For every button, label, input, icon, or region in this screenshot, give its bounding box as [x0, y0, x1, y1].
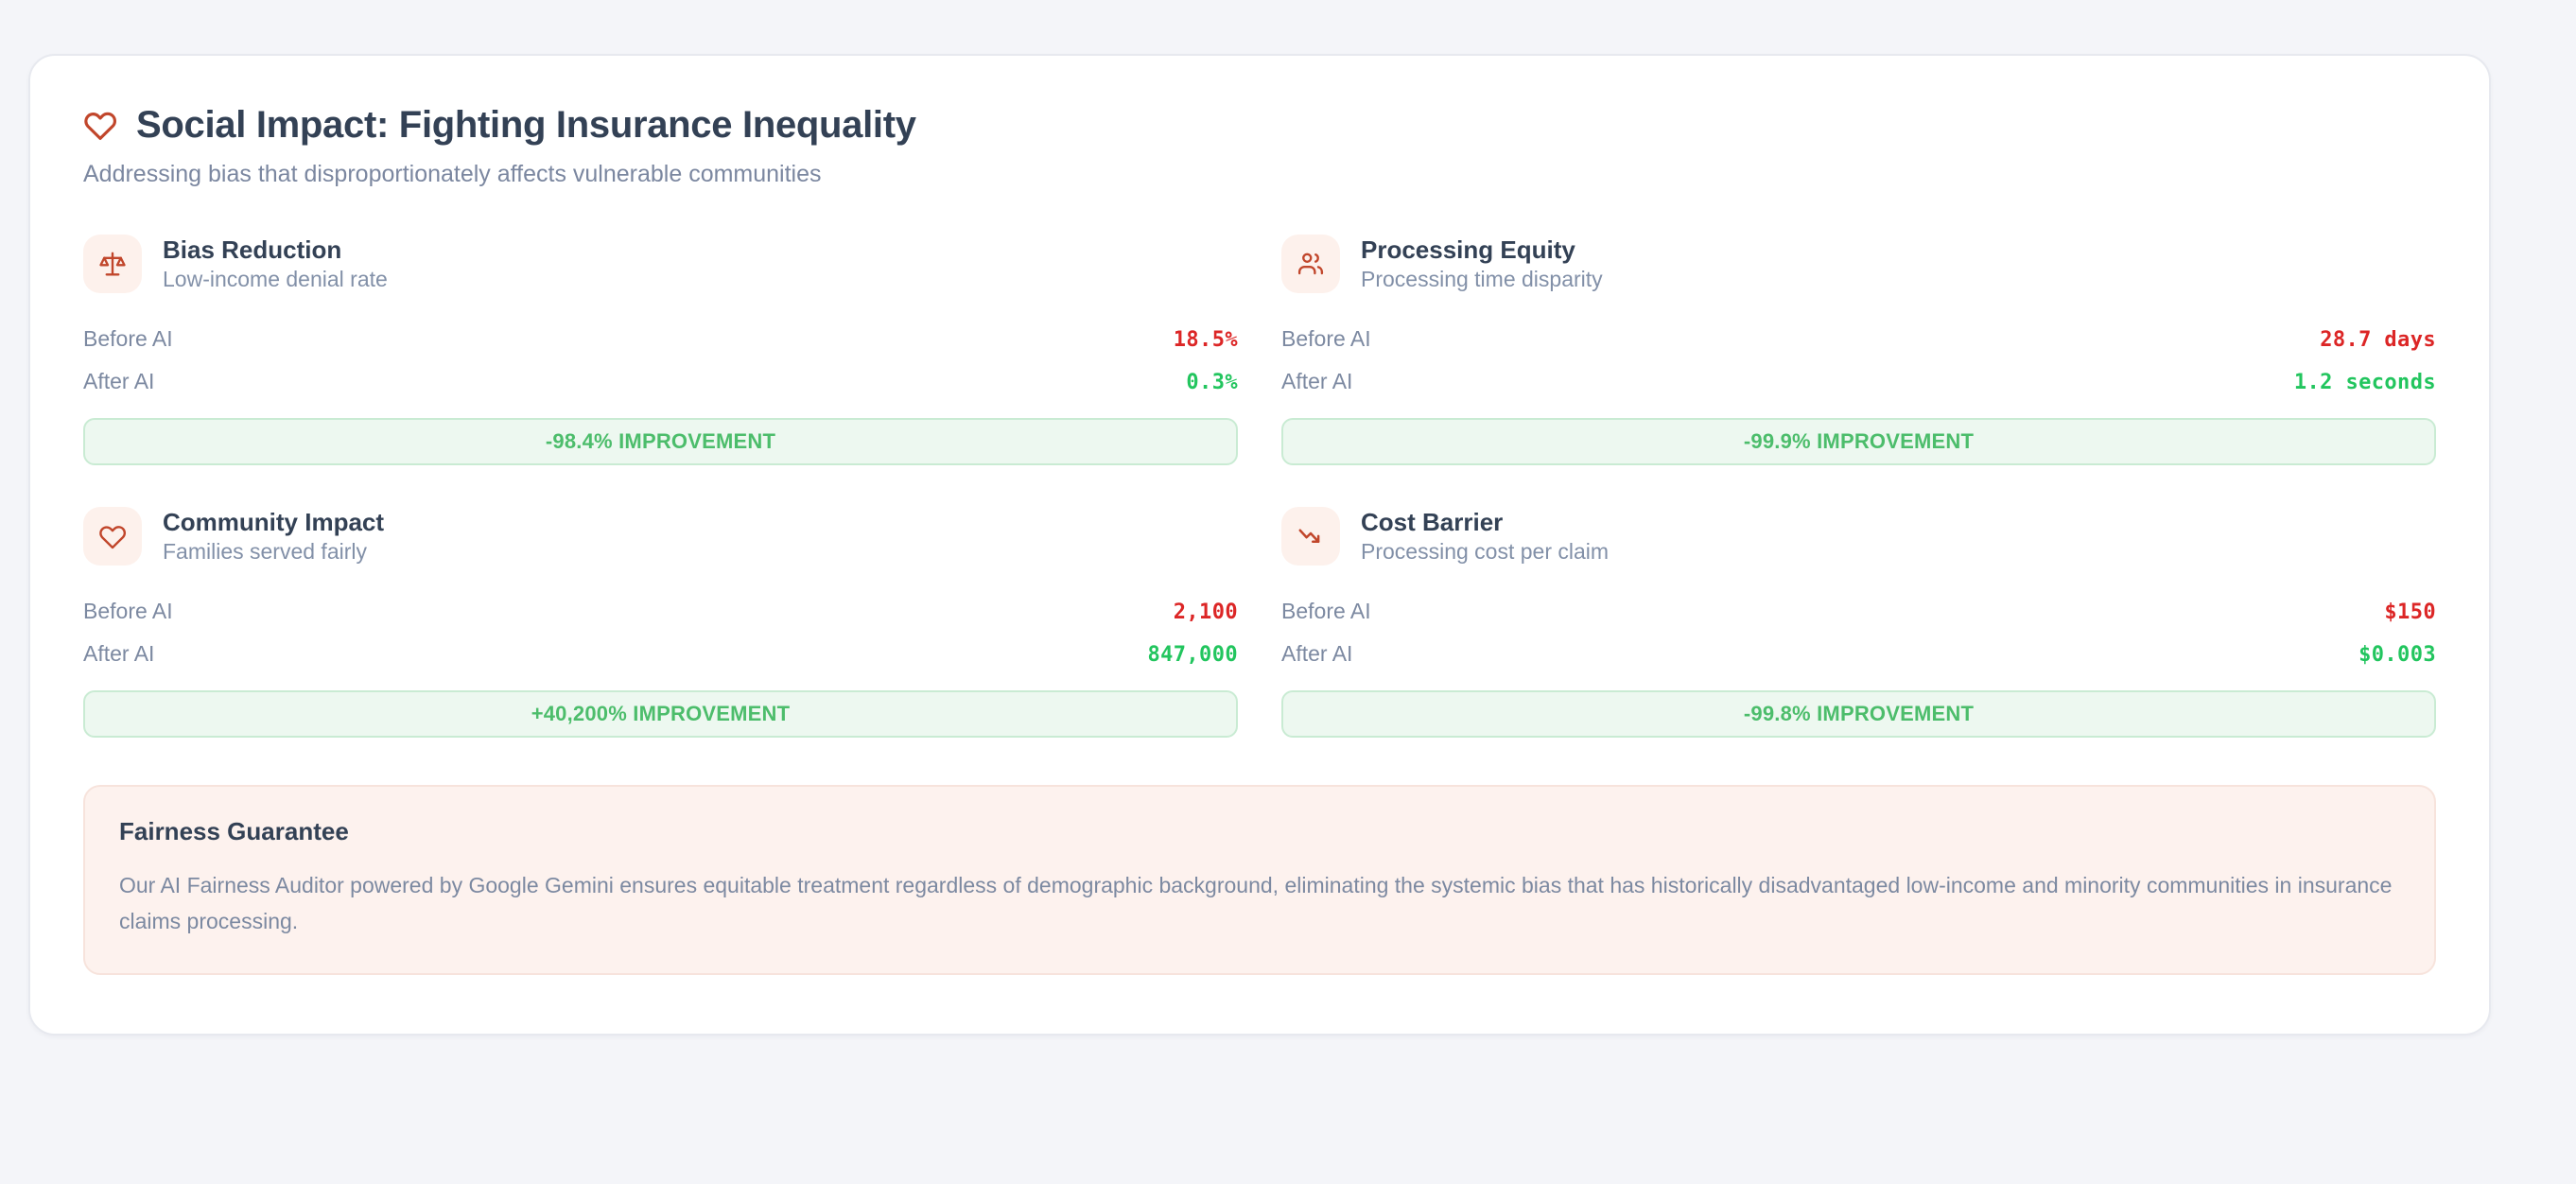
metrics-grid: Bias Reduction Low-income denial rate Be… — [83, 235, 2436, 738]
scales-icon — [98, 250, 127, 278]
fairness-guarantee-title: Fairness Guarantee — [119, 819, 2400, 844]
metric-before-label: Before AI — [1281, 599, 1371, 624]
metric-after-label: After AI — [83, 641, 154, 667]
metric-after-value: 0.3% — [1186, 371, 1238, 394]
panel-header: Social Impact: Fighting Insurance Inequa… — [83, 105, 2436, 189]
metric-card-processing-equity: Processing Equity Processing time dispar… — [1281, 235, 2436, 465]
metric-after-value: 847,000 — [1147, 643, 1238, 667]
metric-row-before: Before AI $150 — [1281, 590, 2436, 633]
metric-sublabel: Families served fairly — [163, 541, 384, 563]
social-impact-panel: Social Impact: Fighting Insurance Inequa… — [28, 54, 2491, 1036]
improvement-badge: -99.9% IMPROVEMENT — [1281, 418, 2436, 465]
metric-row-after: After AI 847,000 — [83, 633, 1238, 675]
page-title-row: Social Impact: Fighting Insurance Inequa… — [83, 105, 2436, 145]
metric-header: Processing Equity Processing time dispar… — [1281, 235, 2436, 293]
metric-icon-tile — [1281, 507, 1340, 566]
metric-values: Before AI 28.7 days After AI 1.2 seconds — [1281, 318, 2436, 403]
metric-row-after: After AI 1.2 seconds — [1281, 360, 2436, 403]
metric-header: Bias Reduction Low-income denial rate — [83, 235, 1238, 293]
metric-before-label: Before AI — [1281, 326, 1371, 352]
metric-after-label: After AI — [1281, 641, 1352, 667]
metric-icon-tile — [1281, 235, 1340, 293]
metric-before-value: 2,100 — [1174, 601, 1238, 624]
metric-values: Before AI 18.5% After AI 0.3% — [83, 318, 1238, 403]
improvement-badge-label: -99.9% IMPROVEMENT — [1744, 429, 1974, 454]
metric-icon-tile — [83, 235, 142, 293]
improvement-badge-label: -98.4% IMPROVEMENT — [546, 429, 775, 454]
metric-icon-tile — [83, 507, 142, 566]
metric-header-text: Cost Barrier Processing cost per claim — [1361, 510, 1609, 563]
improvement-badge: -99.8% IMPROVEMENT — [1281, 690, 2436, 738]
metric-after-value: 1.2 seconds — [2294, 371, 2436, 394]
fairness-guarantee-callout: Fairness Guarantee Our AI Fairness Audit… — [83, 785, 2436, 975]
trending-down-icon — [1297, 522, 1325, 550]
metric-header-text: Processing Equity Processing time dispar… — [1361, 237, 1603, 290]
improvement-badge: -98.4% IMPROVEMENT — [83, 418, 1238, 465]
metric-before-label: Before AI — [83, 326, 173, 352]
metric-card-bias-reduction: Bias Reduction Low-income denial rate Be… — [83, 235, 1238, 465]
heart-icon — [98, 522, 127, 550]
metric-after-value: $0.003 — [2358, 643, 2436, 667]
metric-before-value: $150 — [2384, 601, 2436, 624]
fairness-guarantee-body: Our AI Fairness Auditor powered by Googl… — [119, 868, 2400, 939]
metric-before-value: 18.5% — [1174, 328, 1238, 352]
metric-sublabel: Processing time disparity — [1361, 269, 1603, 290]
improvement-badge-label: +40,200% IMPROVEMENT — [531, 702, 791, 726]
heart-icon — [83, 108, 117, 142]
page-title: Social Impact: Fighting Insurance Inequa… — [136, 105, 916, 145]
metric-label: Cost Barrier — [1361, 510, 1609, 534]
metric-after-label: After AI — [1281, 369, 1352, 394]
metric-sublabel: Processing cost per claim — [1361, 541, 1609, 563]
metric-row-before: Before AI 18.5% — [83, 318, 1238, 360]
metric-sublabel: Low-income denial rate — [163, 269, 388, 290]
metric-values: Before AI $150 After AI $0.003 — [1281, 590, 2436, 675]
metric-row-after: After AI 0.3% — [83, 360, 1238, 403]
metric-before-label: Before AI — [83, 599, 173, 624]
metric-label: Processing Equity — [1361, 237, 1603, 262]
metric-card-cost-barrier: Cost Barrier Processing cost per claim B… — [1281, 507, 2436, 738]
metric-header: Cost Barrier Processing cost per claim — [1281, 507, 2436, 566]
metric-after-label: After AI — [83, 369, 154, 394]
metric-card-community-impact: Community Impact Families served fairly … — [83, 507, 1238, 738]
metric-row-before: Before AI 28.7 days — [1281, 318, 2436, 360]
users-icon — [1297, 250, 1325, 278]
metric-header-text: Bias Reduction Low-income denial rate — [163, 237, 388, 290]
metric-row-before: Before AI 2,100 — [83, 590, 1238, 633]
improvement-badge-label: -99.8% IMPROVEMENT — [1744, 702, 1974, 726]
panel-content: Social Impact: Fighting Insurance Inequa… — [30, 56, 2489, 975]
metric-label: Community Impact — [163, 510, 384, 534]
metric-header: Community Impact Families served fairly — [83, 507, 1238, 566]
metric-label: Bias Reduction — [163, 237, 388, 262]
metric-row-after: After AI $0.003 — [1281, 633, 2436, 675]
page-subtitle: Addressing bias that disproportionately … — [83, 160, 2436, 189]
metric-before-value: 28.7 days — [2320, 328, 2436, 352]
metric-header-text: Community Impact Families served fairly — [163, 510, 384, 563]
metric-values: Before AI 2,100 After AI 847,000 — [83, 590, 1238, 675]
improvement-badge: +40,200% IMPROVEMENT — [83, 690, 1238, 738]
